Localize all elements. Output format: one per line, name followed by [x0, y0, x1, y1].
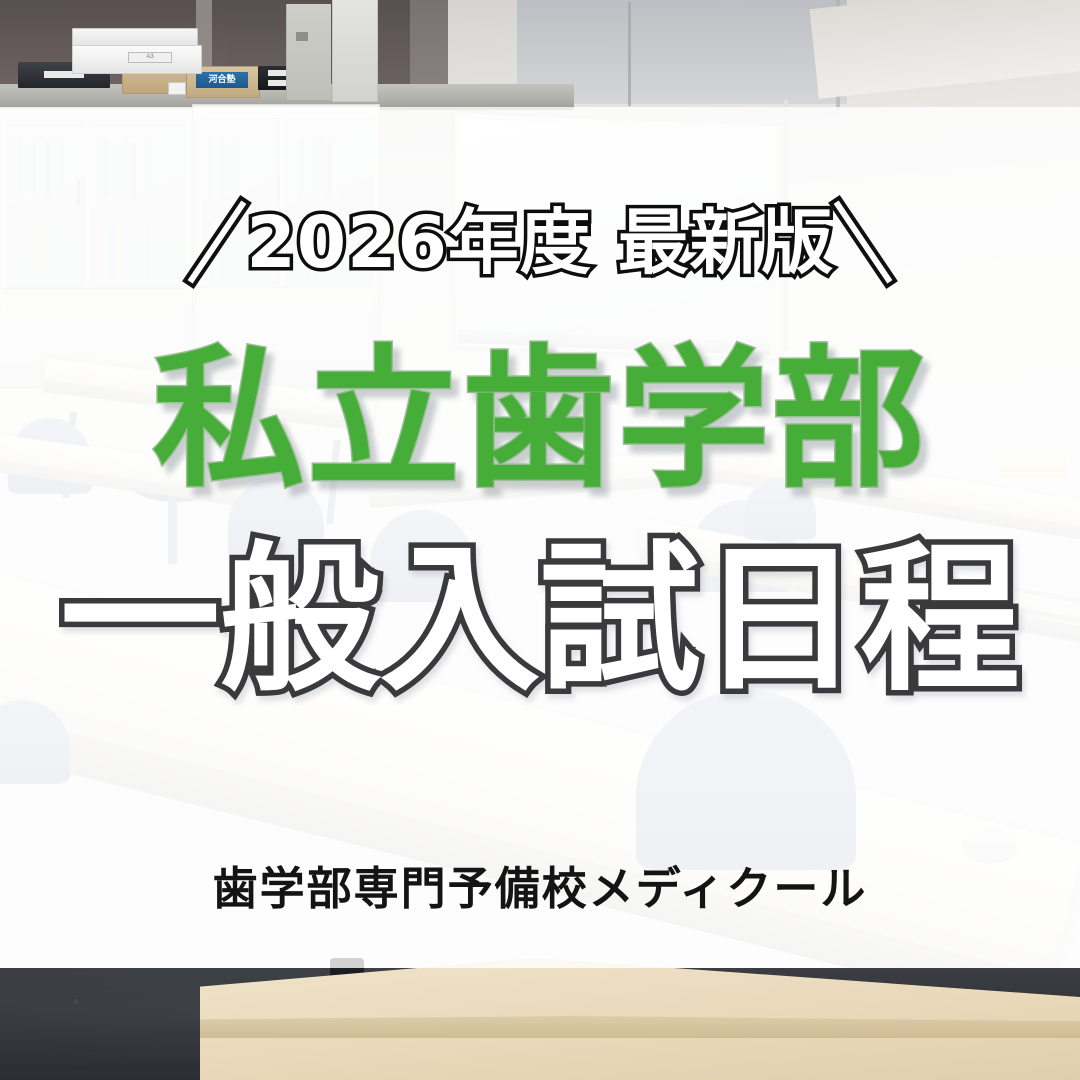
poster-canvas: 河合塾 A3	[0, 0, 1080, 1080]
kicker-text: 2026年度 最新版	[246, 207, 833, 278]
slash-right-icon	[828, 195, 898, 289]
slash-left-icon	[182, 195, 252, 289]
kicker-row: 2026年度 最新版	[0, 189, 1080, 295]
headline-green: 私立歯学部	[0, 344, 1080, 496]
headline-white: 一般入試日程	[0, 540, 1080, 700]
brand-footer: 歯学部専門予備校メディクール	[0, 866, 1080, 911]
text-overlay-layer: 2026年度 最新版 私立歯学部 一般入試日程 歯学部専門予備校メディクール	[0, 0, 1080, 1080]
